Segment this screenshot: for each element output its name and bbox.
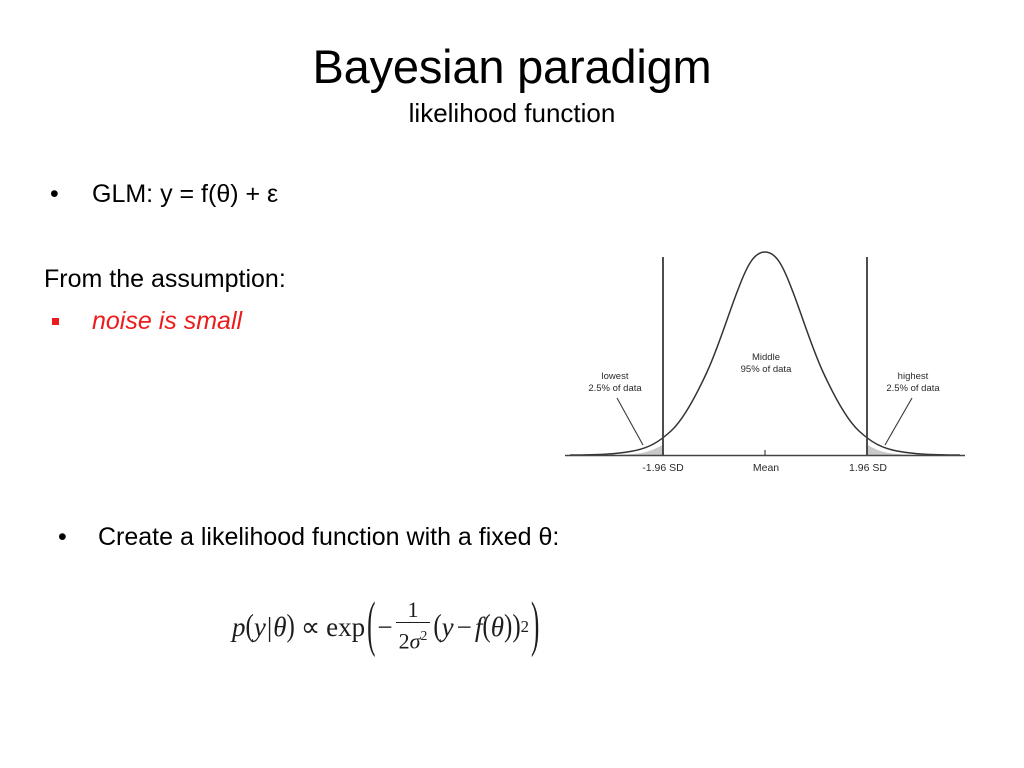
- formula-paren-close-1: ): [286, 609, 294, 645]
- page-title: Bayesian paradigm: [0, 40, 1024, 94]
- leader-line-left: [617, 398, 643, 445]
- formula-inner-f: f: [475, 612, 483, 643]
- formula-denominator: 2σ2: [396, 624, 431, 653]
- formula-paren-close-3: ): [512, 609, 520, 645]
- formula-sigma-exponent: 2: [421, 628, 428, 643]
- x-tick-label-upper: 1.96 SD: [849, 462, 887, 474]
- bullet-marker-icon: •: [52, 519, 98, 555]
- square-bullet-icon: [44, 318, 92, 325]
- right-tail-annotation-line1: highest: [898, 371, 929, 382]
- formula-paren-open-1: (: [246, 609, 254, 645]
- assumption-item: noise is small: [44, 304, 564, 338]
- formula-conditional-bar: |: [266, 612, 273, 643]
- page-subtitle: likelihood function: [0, 96, 1024, 130]
- x-tick-label-mean: Mean: [753, 462, 779, 474]
- likelihood-formula: p(y|θ) ∝ exp(−12σ2(y−f(θ))2): [232, 592, 541, 662]
- bullet-likelihood: • Create a likelihood function with a fi…: [52, 519, 832, 555]
- formula-denominator-two: 2: [399, 628, 410, 653]
- formula-p: p: [232, 612, 246, 643]
- right-tail-annotation-line2: 2.5% of data: [886, 383, 940, 394]
- x-tick-label-lower: -1.96 SD: [642, 462, 684, 474]
- middle-annotation-line2: 95% of data: [741, 364, 792, 375]
- formula-theta-1: θ: [273, 612, 286, 643]
- bell-curve-chart: lowest 2.5% of data Middle 95% of data h…: [555, 190, 975, 482]
- formula-outer-exponent: 2: [521, 617, 529, 637]
- left-tail-annotation-line2: 2.5% of data: [588, 383, 642, 394]
- bullet-likelihood-label: Create a likelihood function with a fixe…: [98, 519, 832, 555]
- formula-paren-close-2: ): [531, 593, 539, 662]
- formula-y: y: [254, 612, 266, 643]
- body-text-column: • GLM: y = f(θ) + ε From the assumption:…: [44, 176, 564, 338]
- title-block: Bayesian paradigm likelihood function: [0, 40, 1024, 130]
- formula-inner-y: y: [442, 612, 454, 643]
- leader-line-right: [885, 398, 912, 445]
- formula-paren-open-3: (: [433, 609, 441, 645]
- assumption-heading: From the assumption:: [44, 261, 564, 297]
- assumption-item-label: noise is small: [92, 304, 242, 338]
- formula-minus: −: [377, 612, 392, 643]
- formula-paren-close-4: ): [504, 609, 512, 645]
- formula-theta-2: θ: [491, 612, 504, 643]
- formula-exp: exp: [326, 612, 365, 643]
- formula-paren-open-4: (: [482, 609, 490, 645]
- normal-distribution-figure: lowest 2.5% of data Middle 95% of data h…: [555, 190, 975, 482]
- bullet-glm-label: GLM: y = f(θ) + ε: [92, 176, 564, 212]
- bullet-marker-icon: •: [44, 176, 92, 212]
- formula-sigma: σ: [410, 628, 421, 653]
- formula-paren-open-2: (: [367, 593, 375, 662]
- formula-fraction-bar: [396, 622, 431, 624]
- slide-canvas: Bayesian paradigm likelihood function • …: [0, 0, 1024, 768]
- formula-numerator: 1: [403, 599, 422, 621]
- left-tail-annotation-line1: lowest: [602, 371, 629, 382]
- bullet-glm: • GLM: y = f(θ) + ε: [44, 176, 564, 212]
- formula-inner-minus: −: [454, 612, 475, 643]
- formula-propto: ∝: [295, 612, 326, 643]
- middle-annotation-line1: Middle: [752, 352, 780, 363]
- formula-fraction: 12σ2: [396, 599, 431, 654]
